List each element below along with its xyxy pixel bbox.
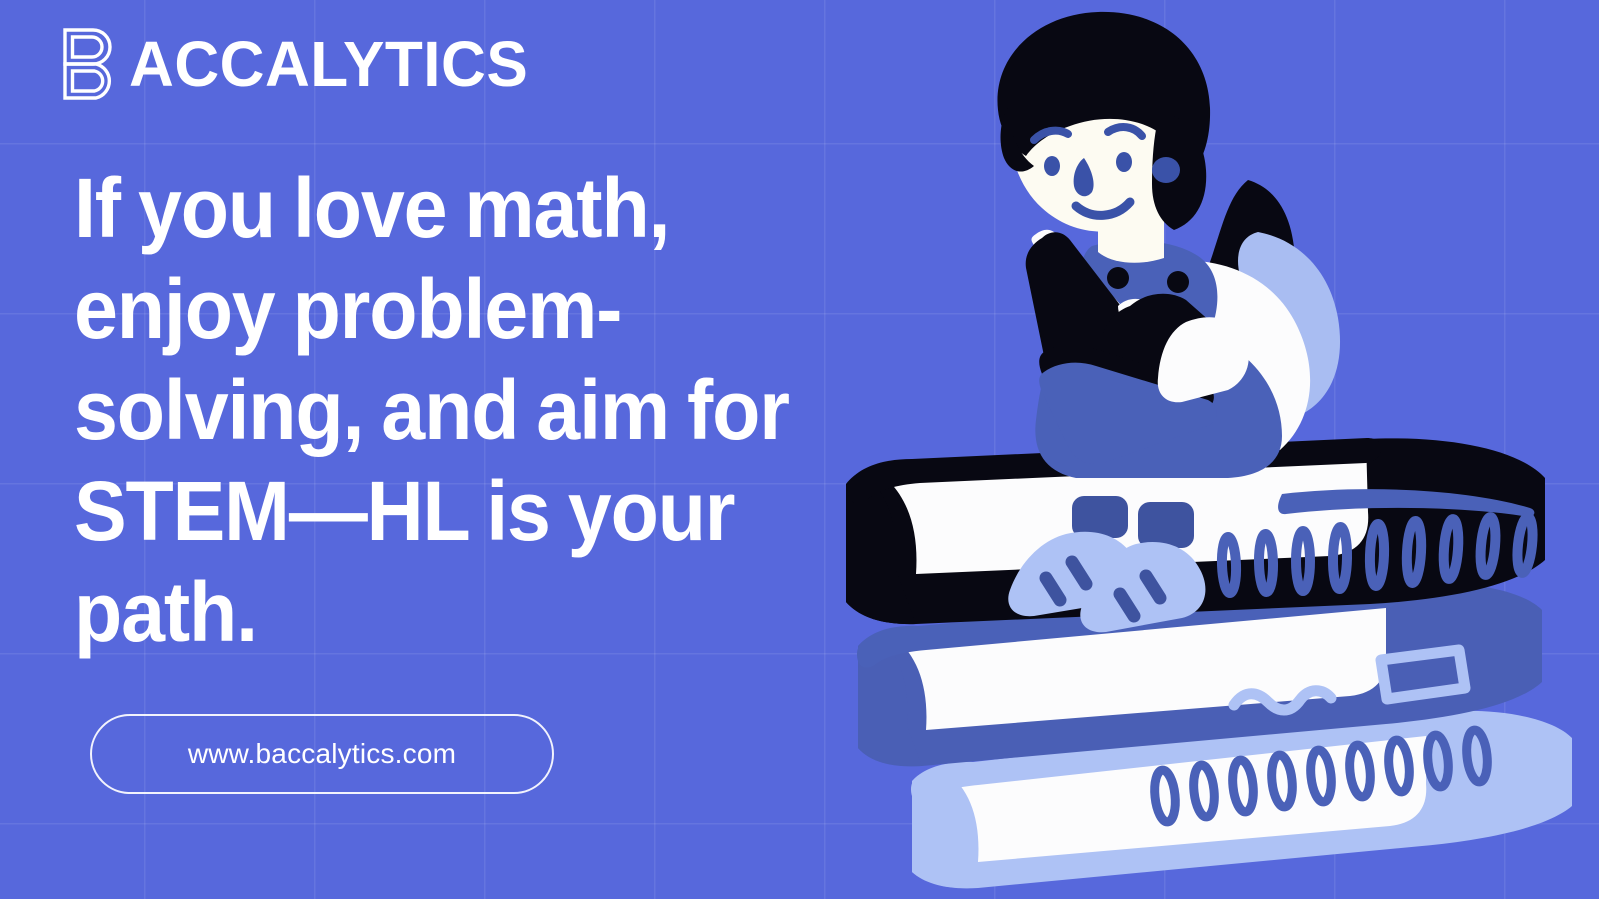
headline-line-2: enjoy problem- [74,262,621,356]
overall-button-left [1107,267,1129,289]
headline-text: If you love math,enjoy problem-solving, … [74,158,845,663]
headline-line-1: If you love math, [74,161,669,255]
headline-line-5: path. [74,565,257,659]
headline-line-4: STEM—HL is your [74,464,734,558]
overall-button-right [1167,271,1189,293]
eye-left [1044,156,1060,176]
ear [1152,157,1180,183]
promo-banner: ACCALYTICS If you love math,enjoy proble… [0,0,1599,899]
eye-right [1116,152,1132,172]
girl-reading-on-book-stack-illustration [830,0,1599,899]
website-url-button[interactable]: www.baccalytics.com [90,714,554,794]
brand-logo[interactable]: ACCALYTICS [60,26,541,102]
ankle-cuff-right [1138,502,1194,548]
headline-line-3: solving, and aim for [74,363,789,457]
ankle-cuff-left [1072,496,1128,538]
b-monogram-outline-icon [60,26,126,102]
brand-wordmark: ACCALYTICS [129,32,528,96]
website-url-label: www.baccalytics.com [188,738,456,770]
